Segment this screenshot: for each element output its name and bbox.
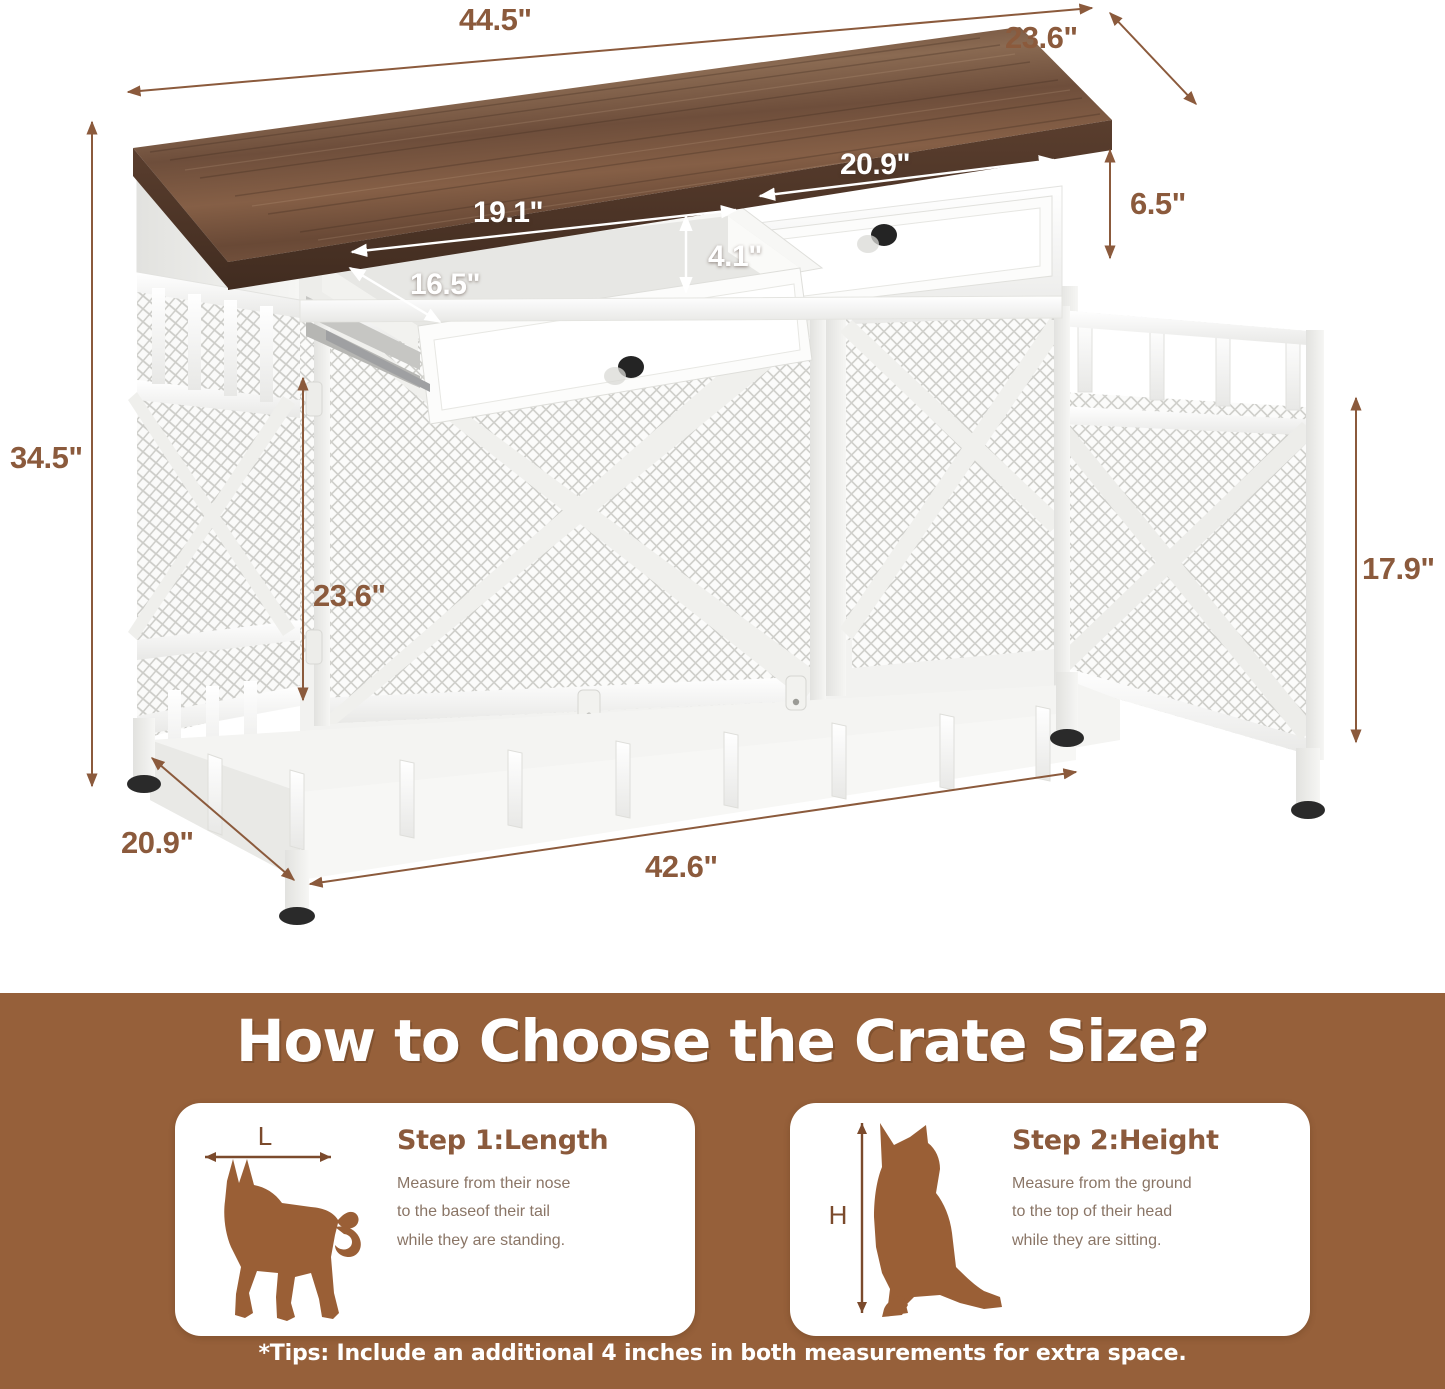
height-measure-arrow [857, 1123, 867, 1313]
standing-dog-art: L [183, 1107, 398, 1335]
step-card-length: L Step 1:Length Measure from their nose … [175, 1103, 695, 1336]
dimension-drawer-interior-width: 19.1" [473, 196, 543, 230]
dog-silhouette-sitting [874, 1123, 1002, 1317]
center-post [826, 296, 846, 696]
guide-title: How to Choose the Crate Size? [0, 1007, 1445, 1075]
dimension-drawer-interior-depth: 16.5" [410, 268, 480, 302]
step-2-heading: Step 2:Height [1012, 1125, 1302, 1156]
step-2-copy: Step 2:Height Measure from the ground to… [1012, 1125, 1302, 1255]
guide-tips-note: *Tips: Include an additional 4 inches in… [0, 1341, 1445, 1366]
dimension-door-height: 17.9" [1362, 551, 1435, 587]
left-side-panel [128, 272, 300, 778]
dimension-crate-interior-height: 23.6" [313, 578, 386, 614]
dimension-base-depth: 20.9" [121, 825, 194, 861]
right-rear-panel [840, 292, 1066, 668]
step-1-copy: Step 1:Length Measure from their nose to… [397, 1125, 687, 1255]
crate-size-guide-banner: How to Choose the Crate Size? L Step 1:L… [0, 993, 1445, 1389]
step-2-line-1: Measure from the ground [1012, 1170, 1302, 1198]
dimension-drawer-front-width: 20.9" [840, 148, 910, 182]
step-card-height: H Step 2:Height Measure from the ground … [790, 1103, 1310, 1336]
crate-body [127, 27, 1325, 925]
dimension-drawer-interior-height: 4.1" [708, 240, 762, 274]
dimension-base-width: 42.6" [645, 849, 718, 885]
step-1-line-3: while they are standing. [397, 1227, 687, 1255]
length-letter: L [258, 1121, 272, 1151]
step-1-line-2: to the baseof their tail [397, 1198, 687, 1226]
dimension-overall-depth: 23.6" [1005, 20, 1078, 56]
leader-overall-depth [1110, 13, 1196, 104]
dimension-drawer-zone-height: 6.5" [1130, 186, 1186, 222]
dimension-overall-height: 34.5" [10, 440, 83, 476]
step-1-line-1: Measure from their nose [397, 1170, 687, 1198]
sitting-dog-art: H [798, 1107, 1013, 1335]
step-2-line-3: while they are sitting. [1012, 1227, 1302, 1255]
dog-silhouette-standing [224, 1159, 361, 1321]
dimension-overall-width: 44.5" [459, 2, 532, 38]
length-measure-arrow [205, 1152, 331, 1162]
step-2-line-2: to the top of their head [1012, 1198, 1302, 1226]
crate-illustration [0, 0, 1445, 993]
height-letter: H [829, 1200, 848, 1230]
step-1-heading: Step 1:Length [397, 1125, 687, 1156]
product-dimension-diagram: 44.5" 23.6" 34.5" 20.9" 19.1" 16.5" 4.1"… [0, 0, 1445, 993]
